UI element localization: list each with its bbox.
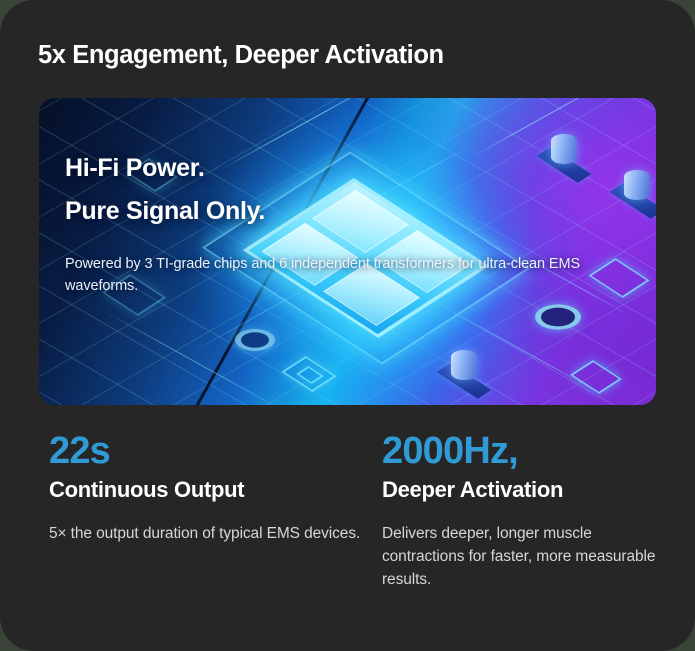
hero-headline-line1: Hi-Fi Power. bbox=[65, 156, 656, 181]
stat-description: 5× the output duration of typical EMS de… bbox=[49, 523, 382, 546]
stat-description: Delivers deeper, longer muscle contracti… bbox=[382, 523, 659, 591]
stat-block-deeper-activation: 2000Hz, Deeper Activation Delivers deepe… bbox=[382, 432, 659, 592]
stats-row: 22s Continuous Output 5× the output dura… bbox=[49, 432, 659, 592]
hero-image: Hi-Fi Power. Pure Signal Only. Powered b… bbox=[39, 98, 656, 405]
stat-block-continuous-output: 22s Continuous Output 5× the output dura… bbox=[49, 432, 382, 592]
stat-value: 22s bbox=[49, 432, 382, 472]
stat-value: 2000Hz, bbox=[382, 432, 659, 472]
hero-body-text: Powered by 3 TI-grade chips and 6 indepe… bbox=[65, 253, 656, 297]
page-title: 5x Engagement, Deeper Activation bbox=[38, 41, 444, 70]
hero-copy: Hi-Fi Power. Pure Signal Only. Powered b… bbox=[65, 156, 656, 297]
feature-card: 5x Engagement, Deeper Activation bbox=[0, 0, 695, 651]
hero-headline-line2: Pure Signal Only. bbox=[65, 199, 656, 224]
stat-label: Deeper Activation bbox=[382, 477, 659, 502]
stat-label: Continuous Output bbox=[49, 477, 382, 502]
